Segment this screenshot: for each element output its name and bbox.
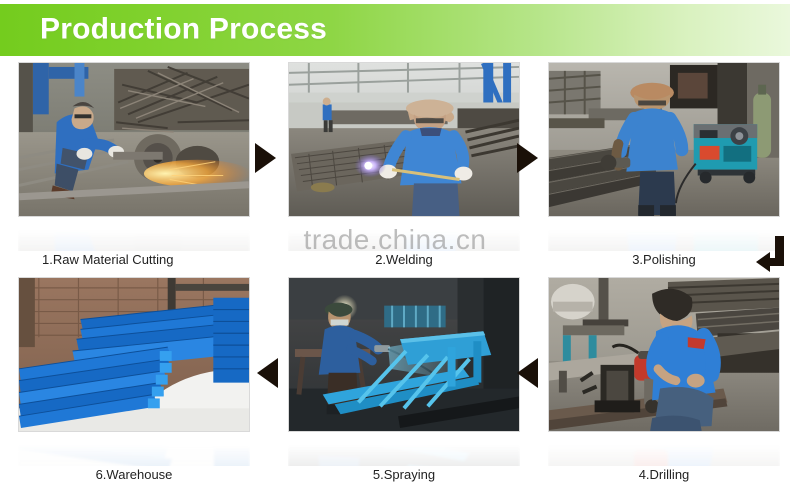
step-3-photo [548,62,780,217]
step-5-photo-reflection [288,432,520,466]
turn-down-left-arrow-icon [756,236,788,280]
process-row-top: 1.Raw Material Cutting [0,62,790,277]
arrow-right-icon-2 [517,143,538,173]
step-3-photo-wrapper [548,62,780,217]
step-6-caption: 6.Warehouse [18,467,250,482]
process-step-1[interactable]: 1.Raw Material Cutting [18,62,250,277]
process-step-3[interactable]: 3.Polishing [548,62,780,277]
step-6-photo-reflection [18,432,250,466]
process-step-6[interactable]: 6.Warehouse [18,277,250,492]
step-1-photo-wrapper [18,62,250,217]
page-title: Production Process [40,12,327,46]
step-1-photo-reflection [18,217,250,251]
arrow-left-icon-1 [257,358,278,388]
step-5-photo-wrapper [288,277,520,432]
step-5-caption: 5.Spraying [288,467,520,482]
step-2-caption: 2.Welding [288,252,520,267]
step-3-photo-reflection [548,217,780,251]
step-6-photo-wrapper [18,277,250,432]
step-4-photo-reflection [548,432,780,466]
process-row-bottom: 6.Warehouse [0,277,790,492]
step-3-caption: 3.Polishing [548,252,780,267]
process-step-5[interactable]: 5.Spraying [288,277,520,492]
arrow-left-icon-2 [517,358,538,388]
step-6-photo [18,277,250,432]
step-5-photo [288,277,520,432]
step-2-photo-wrapper [288,62,520,217]
arrow-right-icon-1 [255,143,276,173]
step-4-photo-wrapper [548,277,780,432]
step-2-photo-reflection [288,217,520,251]
step-4-photo [548,277,780,432]
step-1-photo [18,62,250,217]
step-1-caption: 1.Raw Material Cutting [18,252,250,267]
process-step-2[interactable]: 2.Welding [288,62,520,277]
step-2-photo [288,62,520,217]
page-header-banner: Production Process [0,4,790,56]
step-4-caption: 4.Drilling [548,467,780,482]
process-step-4[interactable]: 4.Drilling [548,277,780,492]
